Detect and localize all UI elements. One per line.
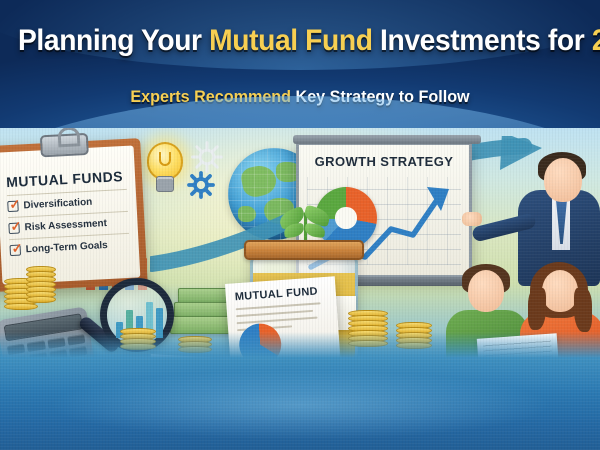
subtitle-part-1: Experts Recommend: [130, 87, 295, 106]
check-icon: ✓: [9, 197, 21, 211]
checklist-item-long-term-goals[interactable]: ✓ Long-Term Goals: [9, 239, 129, 256]
illustration-scene: $ $ $ MUTUAL FUNDS ✓ Dive: [0, 128, 600, 450]
title-part-4: 2026?: [592, 24, 600, 57]
light-bulb-icon: [142, 142, 188, 198]
checklist-item-diversification[interactable]: ✓ Diversification: [7, 195, 127, 212]
title-part-2: Mutual Fund: [209, 24, 380, 57]
checklist-item-risk-assessment[interactable]: ✓ Risk Assessment: [8, 217, 128, 234]
check-icon: ✓: [11, 241, 23, 255]
title-part-1: Planning Your: [18, 24, 209, 57]
checkbox-icon[interactable]: ✓: [9, 245, 21, 257]
clipboard-title: MUTUAL FUNDS: [6, 168, 127, 190]
subtitle-part-2: Key Strategy to Follow: [296, 87, 470, 106]
clipboard[interactable]: MUTUAL FUNDS ✓ Diversification ✓ Risk As…: [0, 138, 148, 292]
gear-blue-icon: [186, 170, 216, 200]
board-top-rail: [293, 135, 481, 144]
board-title: GROWTH STRATEGY: [299, 154, 469, 169]
coin-stack: [26, 268, 56, 303]
page-title: Planning Your Mutual Fund Investments fo…: [0, 26, 600, 56]
header-banner: Planning Your Mutual Fund Investments fo…: [0, 0, 600, 136]
checklist-label: Diversification: [23, 197, 92, 212]
jar-lid: [244, 240, 364, 260]
desk-foreground: [0, 332, 600, 450]
clipboard-clip-icon: [40, 133, 89, 157]
check-icon: ✓: [10, 219, 22, 233]
checklist-label: Long-Term Goals: [25, 240, 108, 255]
mutual-fund-doc-title: MUTUAL FUND: [234, 285, 327, 303]
infographic-banner: Planning Your Mutual Fund Investments fo…: [0, 0, 600, 450]
gear-outline-icon: [190, 140, 224, 174]
checkbox-icon[interactable]: ✓: [8, 223, 20, 235]
page-subtitle: Experts Recommend Key Strategy to Follow: [0, 88, 600, 105]
advisor-hand: [462, 212, 482, 226]
checkbox-icon[interactable]: ✓: [7, 201, 19, 213]
checklist-label: Risk Assessment: [24, 218, 107, 233]
title-part-3: Investments for: [380, 24, 592, 57]
